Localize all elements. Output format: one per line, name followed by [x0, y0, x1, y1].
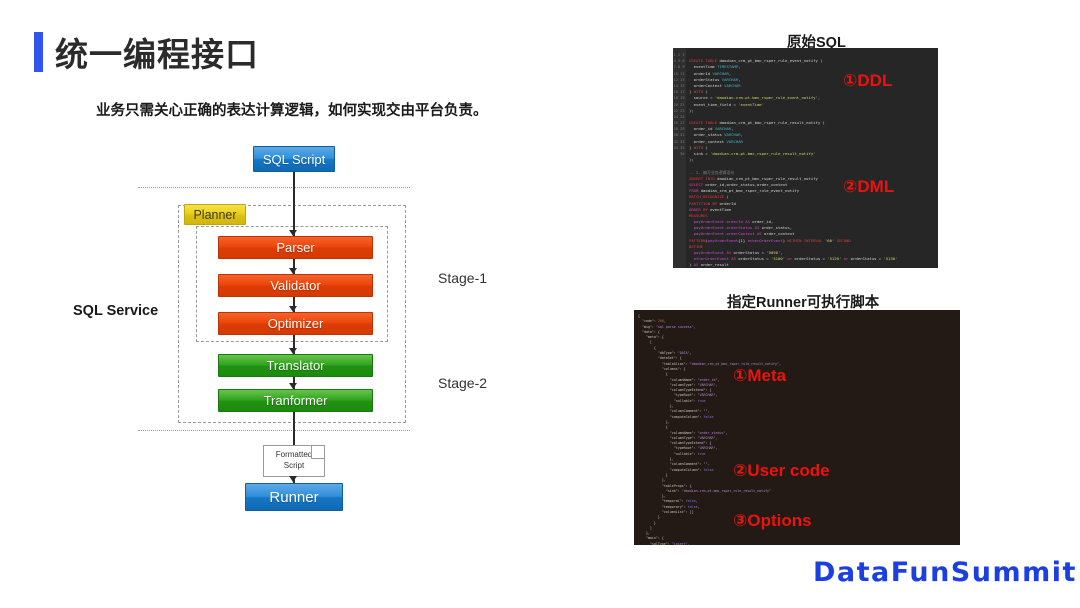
annotation-dml: ②DML [843, 177, 894, 197]
annotation-meta: ①Meta [733, 366, 786, 386]
page-title-block: 统一编程接口 [34, 28, 259, 76]
flow-node-translator[interactable]: Translator [218, 354, 373, 377]
sql-service-flow-diagram: SQL Script Planner Parser Validator Opti… [0, 130, 600, 530]
stage-1-label: Stage-1 [438, 270, 487, 286]
original-sql-code-panel[interactable]: 1 2 3 4 5 6 7 8 9 10 11 12 13 14 15 16 1… [673, 48, 938, 268]
flow-node-optimizer[interactable]: Optimizer [218, 312, 373, 335]
formatted-script-label-line2: Script [264, 461, 324, 472]
sql-code-content[interactable]: CREATE TABLE daodian_crm_pt_bmc_rsper_ru… [686, 48, 938, 268]
document-fold-icon [311, 445, 325, 459]
boundary-line-top [138, 187, 410, 188]
flow-node-validator[interactable]: Validator [218, 274, 373, 297]
flow-node-formatted-script[interactable]: Formatted Script [263, 445, 325, 477]
arrowhead-runner [289, 476, 297, 482]
title-accent-bar [34, 32, 43, 72]
page-subtitle: 业务只需关心正确的表达计算逻辑，如何实现交由平台负责。 [96, 99, 488, 120]
flow-node-planner[interactable]: Planner [184, 204, 246, 225]
flow-node-parser[interactable]: Parser [218, 236, 373, 259]
runner-code-content[interactable]: { "code": 200, "msg": "sql parse success… [634, 310, 960, 545]
boundary-line-bottom [138, 430, 410, 431]
annotation-options: ③Options [733, 511, 812, 531]
flow-node-transformer[interactable]: Tranformer [218, 389, 373, 412]
connector-transformer-doc [293, 412, 295, 449]
datafunsummit-logo: DataFunSummit [813, 557, 1077, 588]
flow-node-runner[interactable]: Runner [245, 483, 343, 511]
runner-panel-heading: 指定Runner可执行脚本 [727, 291, 879, 312]
page-title: 统一编程接口 [55, 28, 259, 76]
stage-2-label: Stage-2 [438, 375, 487, 391]
sql-service-label: SQL Service [73, 303, 158, 319]
sql-line-numbers: 1 2 3 4 5 6 7 8 9 10 11 12 13 14 15 16 1… [673, 48, 686, 268]
annotation-user-code: ②User code [733, 461, 830, 481]
runner-script-code-panel[interactable]: { "code": 200, "msg": "sql parse success… [634, 310, 960, 545]
connector-sqlscript-parser [293, 172, 295, 236]
annotation-ddl: ①DDL [843, 71, 892, 91]
flow-node-sql-script[interactable]: SQL Script [253, 146, 335, 172]
